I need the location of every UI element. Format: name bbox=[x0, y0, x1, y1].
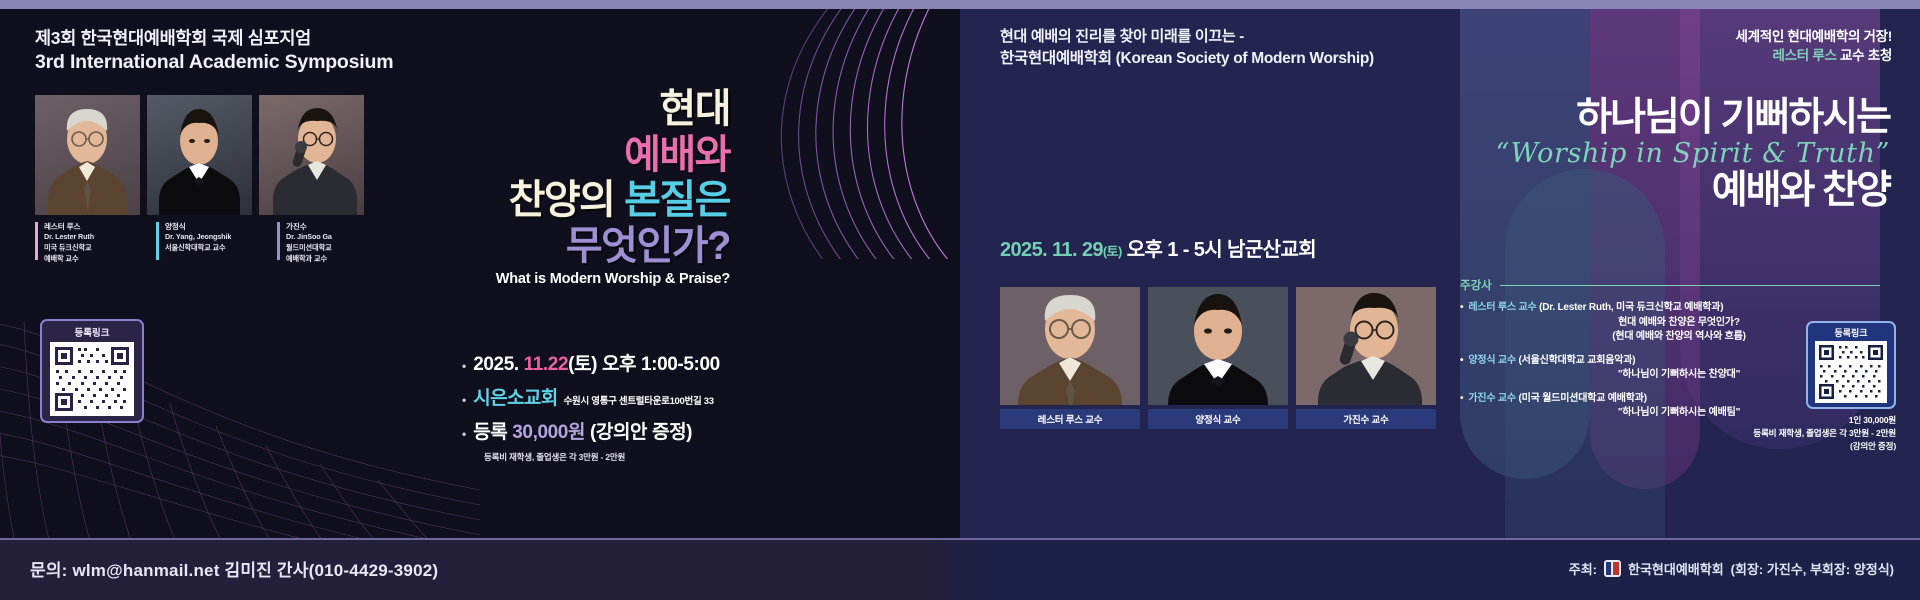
footer-host-prefix: 주최: bbox=[1569, 559, 1597, 578]
tagline-line1: 세계적인 현대예배학의 거장! bbox=[1735, 27, 1892, 46]
right-fee-note: 1인 30,000원 등록비 재학생, 졸업생은 각 3만원 - 2만원 (강의… bbox=[1596, 414, 1896, 453]
footer-host: 주최: 한국현대예배학회 (회장: 가진수, 부회장: 양정식) bbox=[1569, 559, 1894, 578]
fee-line-1: 1인 30,000원 bbox=[1596, 414, 1896, 427]
heading-rule bbox=[1500, 285, 1880, 286]
left-subtitle-english: What is Modern Worship & Praise? bbox=[430, 271, 730, 287]
right-tagline: 세계적인 현대예배학의 거장! 레스터 루스 교수 초청 bbox=[1735, 27, 1892, 65]
speaker-photo-yang-jeongshik bbox=[147, 95, 252, 215]
caption-name-ko: 양정식 bbox=[165, 221, 270, 232]
bullet-icon: • bbox=[1460, 354, 1463, 369]
right-poster-panel: 현대 예배의 진리를 찾아 미래를 이끄는 - 한국현대예배학회 (Korean… bbox=[960, 9, 1920, 540]
caption-dept: 예배학과 교수 bbox=[286, 254, 391, 265]
bullet-icon: • bbox=[462, 360, 466, 372]
right-qr-label: 등록링크 bbox=[1808, 326, 1894, 339]
detail-date: 2025. 11.22(토) 오후 1:00-5:00 bbox=[473, 349, 720, 376]
right-header-line1: 현대 예배의 진리를 찾아 미래를 이끄는 - bbox=[1000, 27, 1374, 48]
caption-name-ko: 가진수 bbox=[286, 221, 391, 232]
right-main-title: 하나님이 기뻐하시는 “Worship in Spirit & Truth” 예… bbox=[1330, 97, 1890, 211]
right-speaker-photos: 레스터 루스 교수 양정식 교수 bbox=[1000, 287, 1436, 429]
society-logo-icon bbox=[1604, 560, 1621, 577]
bullet-icon: • bbox=[1460, 392, 1463, 407]
left-poster-panel: 제3회 한국현대예배학회 국제 심포지엄 3rd International A… bbox=[0, 9, 960, 540]
title-line-4: 무엇인가? bbox=[430, 224, 730, 270]
right-qr-code[interactable] bbox=[1815, 341, 1887, 403]
right-header-line2: 한국현대예배학회 (Korean Society of Modern Worsh… bbox=[1000, 48, 1374, 69]
right-title-line1: 하나님이 기뻐하시는 bbox=[1330, 97, 1890, 138]
footer-host-suffix: (회장: 가진수, 부회장: 양정식) bbox=[1731, 559, 1894, 578]
left-event-details: • 2025. 11.22(토) 오후 1:00-5:00 • 시은소교회수원시… bbox=[462, 349, 802, 463]
detail-place: 시은소교회 bbox=[473, 388, 557, 409]
right-date-line: 2025. 11. 29(토) 오후 1 - 5시 남군산교회 bbox=[1000, 233, 1316, 262]
detail-address: 수원시 영통구 센트럴타운로100번길 33 bbox=[564, 396, 714, 407]
detail-row-place: • 시은소교회수원시 영통구 센트럴타운로100번길 33 bbox=[462, 383, 802, 410]
speaker-name: 레스터 루스 교수 bbox=[1468, 302, 1536, 313]
left-header-block: 제3회 한국현대예배학회 국제 심포지엄 3rd International A… bbox=[35, 27, 393, 76]
detail-fee: 등록 30,000원 (강의안 증정) bbox=[473, 417, 692, 444]
poster-canvas: 제3회 한국현대예배학회 국제 심포지엄 3rd International A… bbox=[0, 0, 1920, 600]
right-date-day: (토) bbox=[1103, 244, 1122, 259]
title-line-3a: 찬양의 bbox=[509, 178, 615, 222]
caption-org: 서울신학대학교 교수 bbox=[165, 243, 270, 254]
detail-place-wrap: 시은소교회수원시 영통구 센트럴타운로100번길 33 bbox=[473, 383, 714, 410]
title-line-1: 현대 bbox=[430, 87, 730, 133]
detail-row-fee: • 등록 30,000원 (강의안 증정) bbox=[462, 417, 802, 444]
left-header-korean: 제3회 한국현대예배학회 국제 심포지엄 bbox=[35, 27, 393, 50]
left-header-english: 3rd International Academic Symposium bbox=[35, 50, 393, 76]
speaker-name: 가진수 교수 bbox=[1468, 393, 1516, 404]
caption-name-en: Dr. JinSoo Ga bbox=[286, 232, 391, 243]
top-accent-bar bbox=[0, 0, 1920, 9]
tagline-line2: 레스터 루스 교수 초청 bbox=[1735, 46, 1892, 65]
footer-host-name: 한국현대예배학회 bbox=[1628, 559, 1724, 578]
bullet-icon: • bbox=[462, 428, 466, 440]
caption-name-en: Dr. Yang, Jeongshik bbox=[165, 232, 270, 243]
caption-lester-ruth: 레스터 루스 Dr. Lester Ruth 미국 듀크신학교 예배학 교수 bbox=[35, 221, 149, 265]
caption-dept: 예배학 교수 bbox=[44, 254, 149, 265]
speaker-name: 양정식 교수 bbox=[1468, 355, 1516, 366]
right-photo-caption: 레스터 루스 교수 bbox=[1000, 409, 1140, 429]
speaker-affiliation: (서울신학대학교 교회음악과) bbox=[1519, 355, 1636, 366]
right-photo-yang-jeongshik: 양정식 교수 bbox=[1148, 287, 1288, 429]
detail-fee-note: 등록비 재학생, 졸업생은 각 3만원 - 2만원 bbox=[484, 451, 802, 463]
left-qr-code[interactable] bbox=[50, 342, 134, 416]
right-header-block: 현대 예배의 진리를 찾아 미래를 이끄는 - 한국현대예배학회 (Korean… bbox=[1000, 27, 1374, 69]
title-line-2: 예배와 bbox=[430, 133, 730, 179]
tagline-speaker-name: 레스터 루스 bbox=[1773, 48, 1837, 63]
footer-bar: 문의: wlm@hanmail.net 김미진 간사(010-4429-3902… bbox=[0, 538, 1920, 600]
right-photo-caption: 양정식 교수 bbox=[1148, 409, 1288, 429]
bullet-icon: • bbox=[1460, 301, 1463, 316]
speaker-photo-jinsoo-ga bbox=[259, 95, 364, 215]
right-photo-jinsoo-ga: 가진수 교수 bbox=[1296, 287, 1436, 429]
right-date-main: 2025. 11. 29 bbox=[1000, 239, 1103, 261]
caption-org: 월드미션대학교 bbox=[286, 243, 391, 254]
fee-line-2: 등록비 재학생, 졸업생은 각 3만원 - 2만원 bbox=[1596, 427, 1896, 440]
right-title-script: “Worship in Spirit & Truth” bbox=[1330, 140, 1890, 168]
caption-name-en: Dr. Lester Ruth bbox=[44, 232, 149, 243]
speaker-affiliation: (미국 월드미션대학교 예배학과) bbox=[1519, 393, 1647, 404]
fee-line-3: (강의안 증정) bbox=[1596, 440, 1896, 453]
speaker-affiliation: (Dr. Lester Ruth, 미국 듀크신학교 예배학과) bbox=[1539, 302, 1723, 313]
speaker-photo-lester-ruth bbox=[35, 95, 140, 215]
caption-name-ko: 레스터 루스 bbox=[44, 221, 149, 232]
detail-row-date: • 2025. 11.22(토) 오후 1:00-5:00 bbox=[462, 349, 802, 376]
right-title-line2: 예배와 찬양 bbox=[1330, 170, 1890, 211]
caption-yang-jeongshik: 양정식 Dr. Yang, Jeongshik 서울신학대학교 교수 bbox=[156, 221, 270, 265]
right-photo-caption: 가진수 교수 bbox=[1296, 409, 1436, 429]
caption-jinsoo-ga: 가진수 Dr. JinSoo Ga 월드미션대학교 예배학과 교수 bbox=[277, 221, 391, 265]
left-qr-label: 등록링크 bbox=[42, 325, 142, 339]
caption-org: 미국 듀크신학교 bbox=[44, 243, 149, 254]
title-line-3b: 본질은 bbox=[624, 178, 730, 222]
right-registration-qr-card[interactable]: 등록링크 bbox=[1806, 321, 1896, 409]
right-photo-lester-ruth: 레스터 루스 교수 bbox=[1000, 287, 1140, 429]
speaker-list-heading: 주강사 bbox=[1460, 277, 1880, 293]
left-speaker-photos bbox=[35, 95, 364, 215]
right-date-time: 오후 1 - 5시 남군산교회 bbox=[1122, 239, 1316, 261]
title-line-3: 찬양의 본질은 bbox=[430, 178, 730, 224]
footer-contact: 문의: wlm@hanmail.net 김미진 간사(010-4429-3902… bbox=[30, 556, 438, 581]
left-speaker-captions: 레스터 루스 Dr. Lester Ruth 미국 듀크신학교 예배학 교수 양… bbox=[35, 221, 391, 265]
left-registration-qr-card[interactable]: 등록링크 bbox=[40, 319, 144, 423]
bullet-icon: • bbox=[462, 394, 466, 406]
left-main-title: 현대 예배와 찬양의 본질은 무엇인가? bbox=[430, 87, 730, 269]
